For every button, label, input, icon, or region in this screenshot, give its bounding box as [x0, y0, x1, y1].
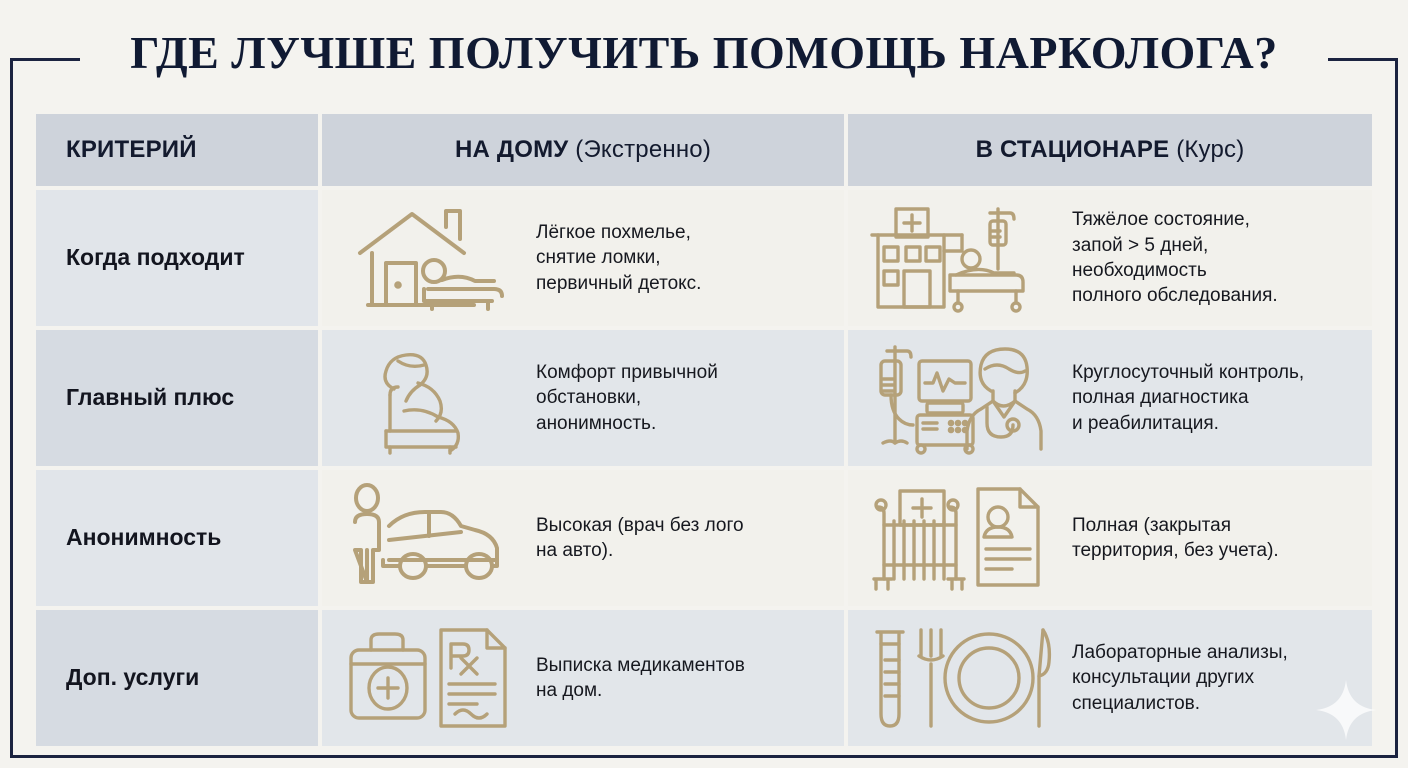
- table-header-row: КРИТЕРИЙ НА ДОМУ (Экстренно) В СТАЦИОНАР…: [36, 114, 1372, 186]
- header-inpatient-label: В СТАЦИОНАРЕ: [976, 136, 1170, 163]
- comparison-table: КРИТЕРИЙ НА ДОМУ (Экстренно) В СТАЦИОНАР…: [36, 114, 1372, 746]
- row-home-cell: Высокая (врач без лого на авто).: [322, 470, 844, 606]
- header-criterion-label: КРИТЕРИЙ: [66, 136, 197, 163]
- iv-stand-ecg-monitor-doctor-icon: [858, 339, 1058, 457]
- four-point-sparkle-icon: [1314, 678, 1378, 742]
- row-clinic-cell: Лабораторные анализы, консультации други…: [848, 610, 1372, 746]
- row-clinic-cell: Полная (закрытая территория, без учета).: [848, 470, 1372, 606]
- row-clinic-text: Тяжёлое состояние, запой > 5 дней, необх…: [1072, 207, 1372, 308]
- row-criterion-cell: Главный плюс: [36, 330, 318, 466]
- table-row: Доп. услуги: [36, 610, 1372, 746]
- table-row: Анонимность: [36, 470, 1372, 606]
- row-home-text: Высокая (врач без лого на авто).: [536, 513, 844, 564]
- header-cell-criterion: КРИТЕРИЙ: [36, 114, 318, 186]
- criterion-label: Главный плюс: [36, 384, 234, 412]
- test-tube-and-cutlery-plate-icon: [858, 622, 1058, 734]
- row-clinic-text: Полная (закрытая территория, без учета).: [1072, 513, 1372, 564]
- header-cell-at-home: НА ДОМУ (Экстренно): [322, 114, 844, 186]
- row-home-cell: Выписка медикаментов на дом.: [322, 610, 844, 746]
- row-clinic-text: Круглосуточный контроль, полная диагност…: [1072, 360, 1372, 436]
- row-criterion-cell: Когда подходит: [36, 190, 318, 326]
- table-row: Когда подходит: [36, 190, 1372, 326]
- row-criterion-cell: Анонимность: [36, 470, 318, 606]
- row-home-text: Комфорт привычной обстановки, анонимност…: [536, 360, 844, 436]
- table-row: Главный плюс: [36, 330, 1372, 466]
- criterion-label: Доп. услуги: [36, 664, 199, 692]
- row-criterion-cell: Доп. услуги: [36, 610, 318, 746]
- row-home-text: Выписка медикаментов на дом.: [536, 653, 844, 704]
- criterion-label: Анонимность: [36, 524, 221, 552]
- row-clinic-cell: Круглосуточный контроль, полная диагност…: [848, 330, 1372, 466]
- row-home-text: Лёгкое похмелье, снятие ломки, первичный…: [536, 220, 844, 296]
- person-next-to-car-icon: [332, 482, 522, 594]
- hospital-building-with-patient-bed-iv-icon: [858, 199, 1058, 317]
- header-at-home-sublabel: (Экстренно): [575, 136, 711, 163]
- row-home-cell: Лёгкое похмелье, снятие ломки, первичный…: [322, 190, 844, 326]
- first-aid-kit-and-prescription-icon: [332, 622, 522, 734]
- criterion-label: Когда подходит: [36, 244, 245, 272]
- row-home-cell: Комфорт привычной обстановки, анонимност…: [322, 330, 844, 466]
- house-with-patient-on-bed-icon: [332, 201, 522, 316]
- row-clinic-cell: Тяжёлое состояние, запой > 5 дней, необх…: [848, 190, 1372, 326]
- fenced-clinic-and-patient-record-icon: [858, 479, 1058, 597]
- header-at-home-label: НА ДОМУ: [455, 136, 568, 163]
- person-relaxing-in-armchair-icon: [332, 339, 522, 457]
- header-inpatient-sublabel: (Курс): [1176, 136, 1244, 163]
- header-cell-inpatient: В СТАЦИОНАРЕ (Курс): [848, 114, 1372, 186]
- page-title: ГДЕ ЛУЧШЕ ПОЛУЧИТЬ ПОМОЩЬ НАРКОЛОГА?: [0, 26, 1408, 79]
